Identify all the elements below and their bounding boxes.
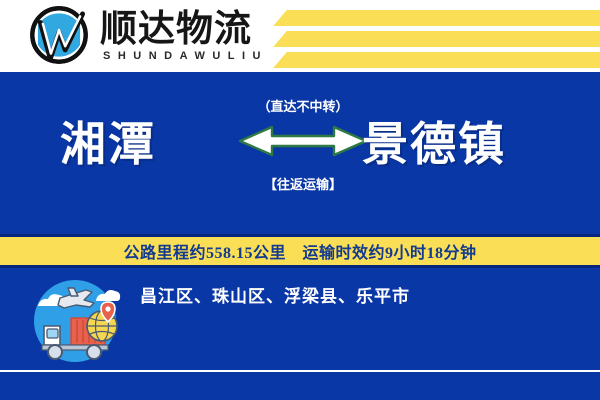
route-info-text: 公路里程约558.15公里 运输时效约9小时18分钟 (123, 239, 476, 263)
banner-footer (0, 372, 600, 400)
brand-name-en: SHUNDAWULIU (100, 50, 268, 62)
destination-city: 景德镇 (362, 108, 506, 174)
stripe-3 (273, 52, 600, 68)
swoosh-circle-logo-icon (28, 4, 90, 66)
logistics-route-banner: 顺达物流 SHUNDAWULIU 湘潭 （直达不中转） 【往返运输】 景德镇 公… (0, 0, 600, 400)
coverage-areas: 昌江区、珠山区、浮梁县、乐平市 (140, 282, 410, 307)
stripe-2 (273, 31, 600, 47)
direct-note: （直达不中转） (238, 96, 368, 115)
banner-header: 顺达物流 SHUNDAWULIU (0, 0, 600, 72)
roundtrip-note: 【往返运输】 (238, 174, 368, 193)
route-row: 湘潭 （直达不中转） 【往返运输】 景德镇 (0, 72, 600, 236)
origin-city: 湘潭 (60, 108, 156, 174)
route-band: 湘潭 （直达不中转） 【往返运输】 景德镇 (0, 72, 600, 236)
brand-logo: 顺达物流 SHUNDAWULIU (28, 4, 268, 66)
truck-plane-globe-icon (24, 274, 126, 368)
brand-text: 顺达物流 SHUNDAWULIU (100, 8, 268, 63)
route-info-bar: 公路里程约558.15公里 运输时效约9小时18分钟 (0, 234, 600, 268)
stripe-1 (273, 10, 600, 26)
route-middle: （直达不中转） 【往返运输】 (238, 86, 368, 226)
coverage-section: 昌江区、珠山区、浮梁县、乐平市 (0, 268, 600, 370)
decorative-yellow-stripes (300, 0, 600, 72)
brand-name-cn: 顺达物流 (100, 10, 268, 48)
double-headed-arrow-icon (238, 121, 368, 161)
